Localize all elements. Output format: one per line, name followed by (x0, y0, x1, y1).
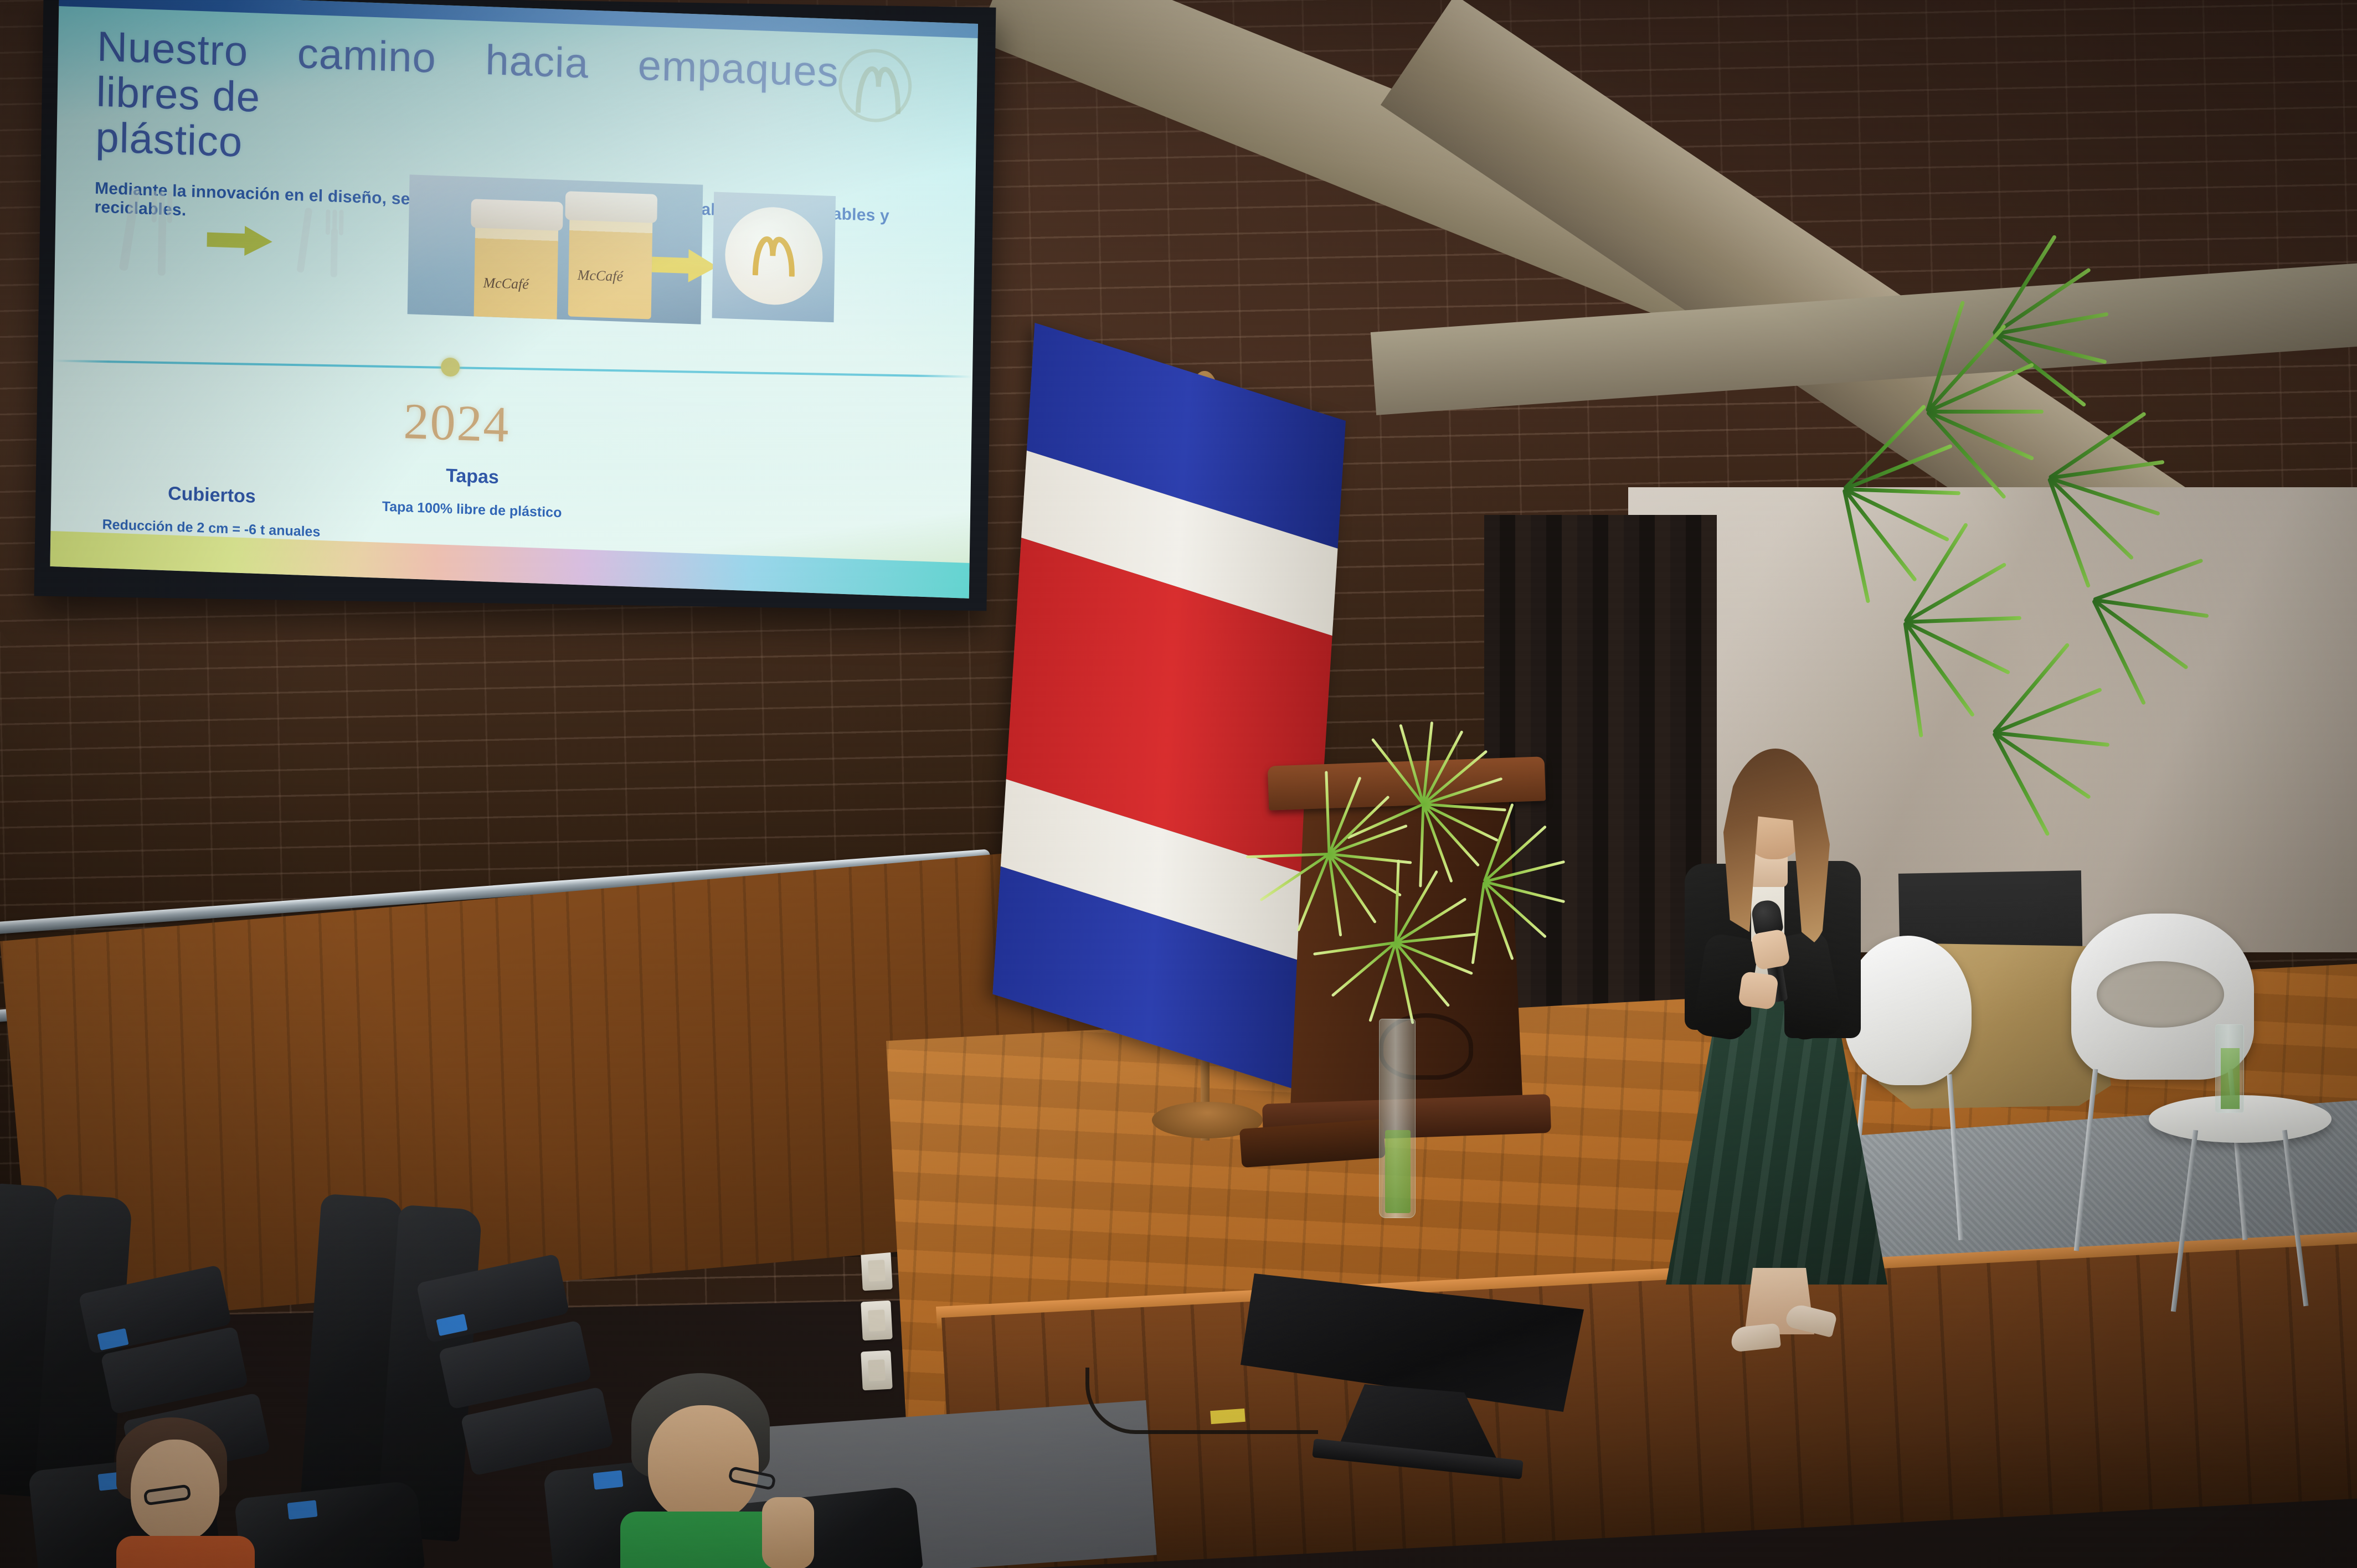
cup-lid (565, 191, 657, 223)
monitor-cable (1085, 1368, 1318, 1434)
cup-lid (471, 199, 563, 231)
audience-torso (116, 1536, 255, 1568)
lid-disc (724, 205, 824, 306)
wall-outlet[interactable] (861, 1251, 893, 1291)
audience-hand (762, 1497, 814, 1568)
chair-back-cutout (2097, 961, 2224, 1028)
projection-screen: Nuestro camino hacia empaques libres de … (34, 0, 996, 611)
smaller-knife-and-fork-icon (292, 199, 354, 287)
column-label: Cubiertos (56, 479, 367, 512)
seat-back-front-row[interactable] (234, 1480, 425, 1568)
green-arrow-icon (207, 224, 274, 256)
yellow-gaffer-tape (1210, 1409, 1246, 1424)
projection-screen-surface: Nuestro camino hacia empaques libres de … (50, 0, 978, 599)
cutlery-transition-group (114, 182, 355, 298)
speaker-shoe (1730, 1323, 1781, 1353)
mcdonalds-arches-watermark (838, 48, 912, 123)
slide-column-tapas: Tapas Tapa 100% libre de plástico (361, 462, 583, 522)
plastic-free-lid-photo (712, 192, 836, 322)
seat-number-tag (287, 1500, 318, 1519)
presentation-scene: Nuestro camino hacia empaques libres de … (0, 0, 2357, 1568)
timeline-dot (441, 357, 460, 376)
slide-title-line-2: plástico (95, 115, 838, 187)
glass-vase-with-greenery (2215, 1024, 2244, 1113)
speaker-hand-lower (1738, 971, 1779, 1010)
papyrus-plant-in-glass-vase (1274, 792, 1573, 1058)
mccafe-cup: McCafé (474, 208, 558, 324)
mccafe-logo-text: McCafé (483, 275, 529, 293)
speaker-hand-upper (1751, 929, 1791, 971)
audience-head (648, 1405, 759, 1521)
timeline-line (53, 359, 972, 378)
slide-title: Nuestro camino hacia empaques libres de … (95, 24, 839, 186)
knife-and-fork-icon (114, 182, 188, 293)
mccafe-logo-text: McCafé (578, 267, 624, 285)
seat-number-tag (593, 1470, 624, 1489)
speaker-presenter (1656, 714, 1888, 1379)
wall-outlet[interactable] (861, 1350, 893, 1391)
yellow-arrow-icon (652, 248, 718, 283)
glass-vase (1379, 1019, 1416, 1218)
mccafe-cup: McCafé (568, 200, 653, 319)
column-label: Tapas (362, 462, 583, 492)
column-description: Tapa 100% libre de plástico (361, 498, 583, 522)
slide-graphics-row: McCafé McCafé (97, 176, 919, 332)
wall-outlet[interactable] (861, 1301, 893, 1341)
timeline-year: 2024 (362, 390, 552, 456)
slide-title-line-1: Nuestro camino hacia empaques libres de (96, 23, 839, 121)
slide-content: Nuestro camino hacia empaques libres de … (50, 0, 978, 599)
